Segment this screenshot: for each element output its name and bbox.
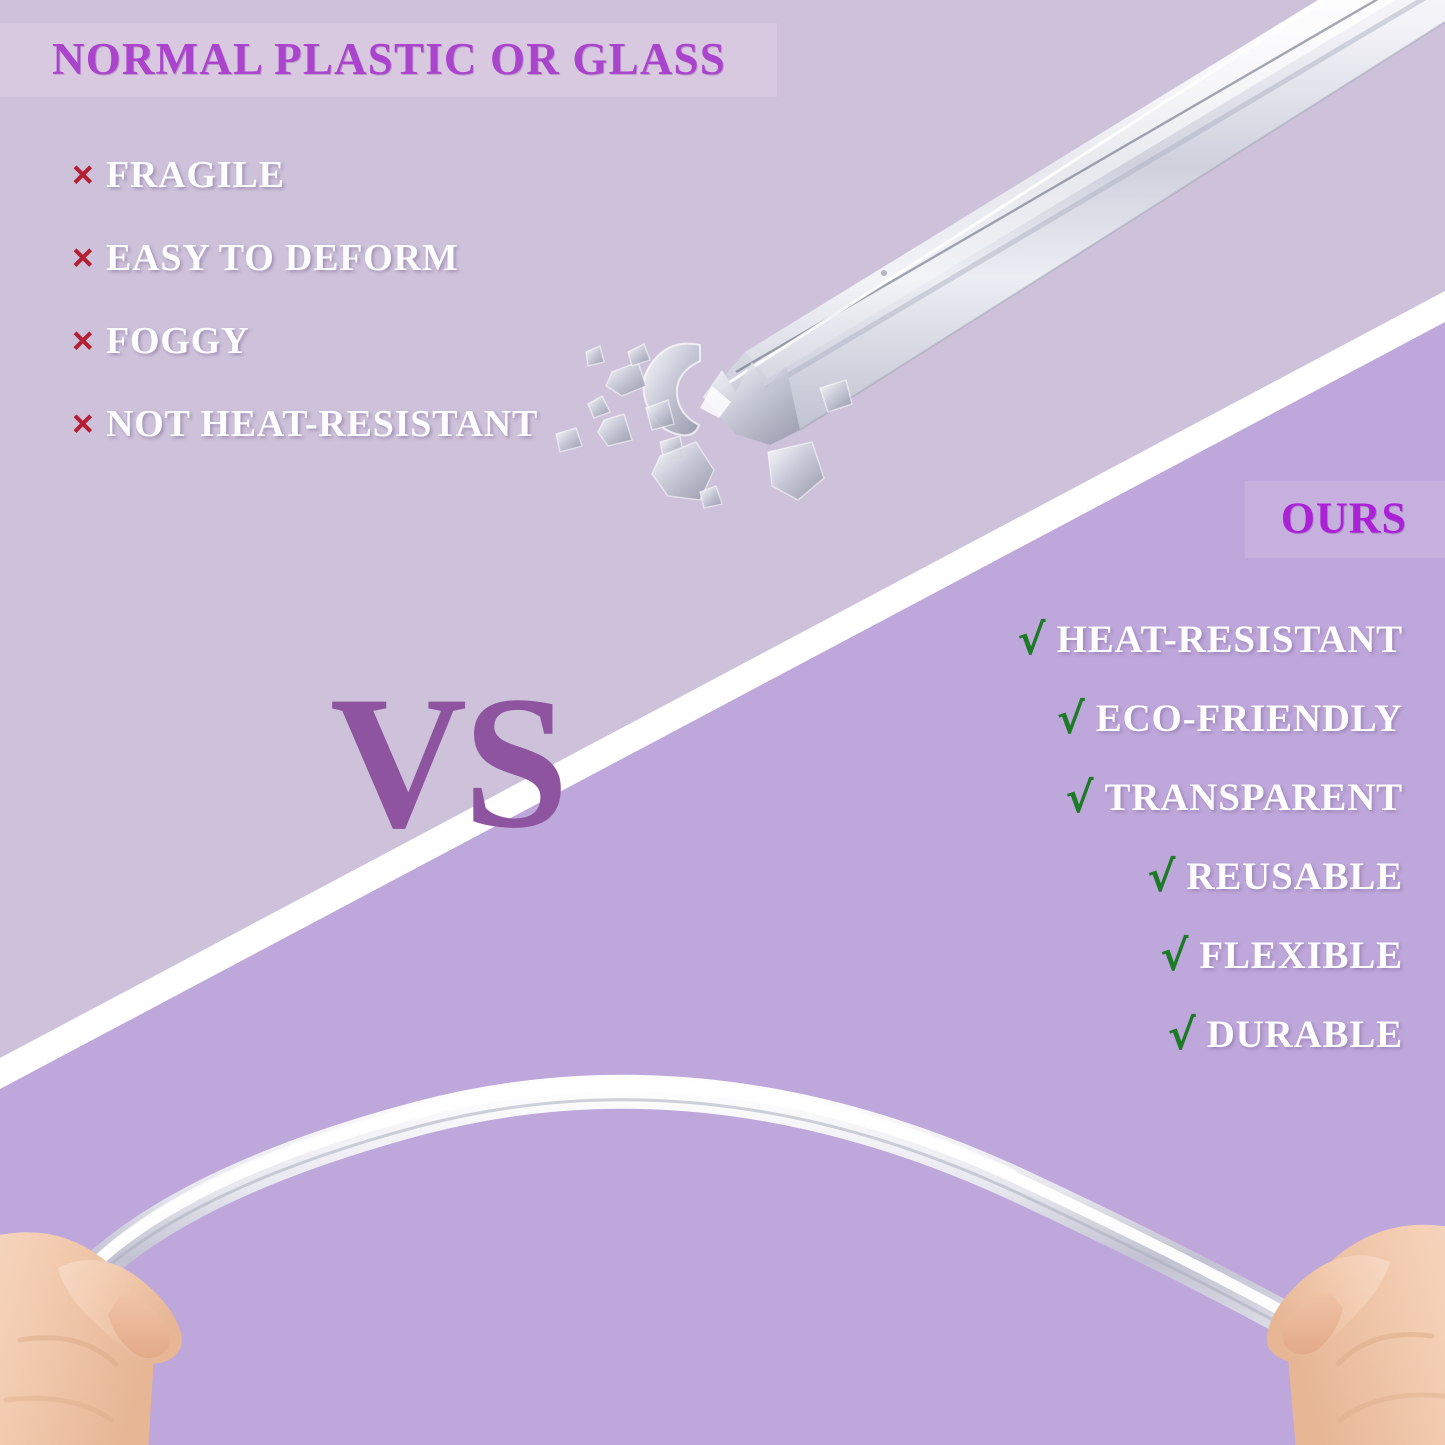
con-list-item: × EASY TO DEFORM — [72, 216, 538, 299]
cross-icon: × — [72, 239, 106, 276]
versus-label: VS — [330, 668, 565, 858]
cross-icon: × — [72, 405, 106, 442]
pro-list-item-label: FLEXIBLE — [1199, 933, 1403, 978]
con-list-item-label: NOT HEAT-RESISTANT — [106, 402, 538, 446]
comparison-infographic: NORMAL PLASTIC OR GLASS × FRAGILE × EASY… — [0, 0, 1445, 1445]
check-icon: √ — [1147, 856, 1175, 898]
con-list-item: × FOGGY — [72, 299, 538, 382]
check-icon: √ — [1018, 619, 1046, 661]
pro-list-item-label: ECO-FRIENDLY — [1096, 696, 1403, 741]
check-icon: √ — [1066, 777, 1094, 819]
check-icon: √ — [1168, 1014, 1196, 1056]
pro-list-item: √ FLEXIBLE — [1018, 916, 1403, 995]
pro-list-item: √ TRANSPARENT — [1018, 758, 1403, 837]
pro-list-item: √ HEAT-RESISTANT — [1018, 600, 1403, 679]
check-icon: √ — [1160, 935, 1188, 977]
pro-list-item-label: DURABLE — [1207, 1012, 1403, 1057]
con-panel-title: NORMAL PLASTIC OR GLASS — [52, 33, 726, 85]
pro-list-item-label: TRANSPARENT — [1105, 775, 1403, 820]
check-icon: √ — [1057, 698, 1085, 740]
con-list-item-label: FOGGY — [106, 319, 249, 363]
con-feature-list: × FRAGILE × EASY TO DEFORM × FOGGY × NOT… — [72, 133, 538, 465]
pro-feature-list: √ HEAT-RESISTANT √ ECO-FRIENDLY √ TRANSP… — [1018, 600, 1403, 1074]
con-list-item-label: EASY TO DEFORM — [106, 236, 459, 280]
pro-list-item-label: REUSABLE — [1186, 854, 1403, 899]
pro-panel-title: OURS — [1281, 492, 1407, 543]
con-list-item: × FRAGILE — [72, 133, 538, 216]
pro-list-item-label: HEAT-RESISTANT — [1057, 617, 1403, 662]
cross-icon: × — [72, 322, 106, 359]
pro-list-item: √ DURABLE — [1018, 995, 1403, 1074]
pro-panel-banner: OURS — [1245, 481, 1445, 558]
pro-list-item: √ REUSABLE — [1018, 837, 1403, 916]
con-panel-banner: NORMAL PLASTIC OR GLASS — [0, 23, 777, 97]
pro-list-item: √ ECO-FRIENDLY — [1018, 679, 1403, 758]
con-list-item: × NOT HEAT-RESISTANT — [72, 382, 538, 465]
con-list-item-label: FRAGILE — [106, 153, 285, 197]
cross-icon: × — [72, 156, 106, 193]
